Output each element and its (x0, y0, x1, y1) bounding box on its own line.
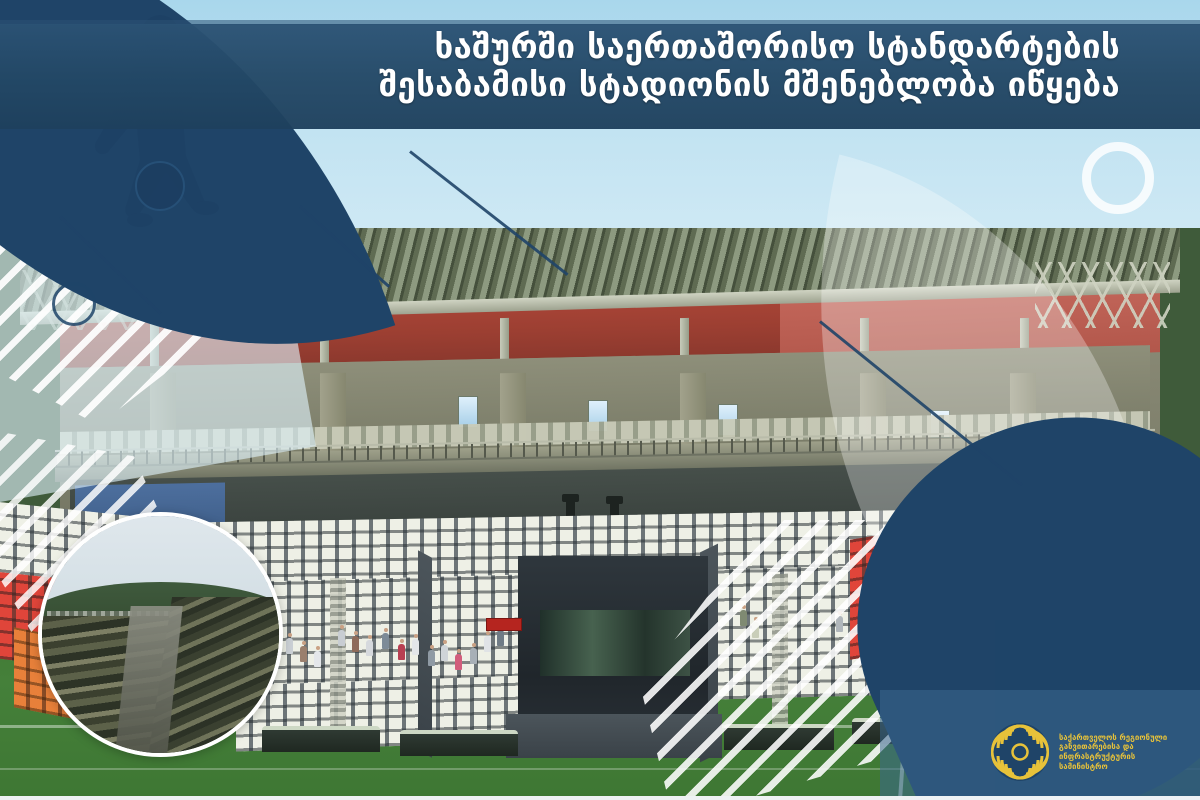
poster-canvas: ხაშურში საერთაშორისო სტანდარტების შესაბა… (0, 0, 1200, 800)
ministry-text-line-4: სამინისტრო (1059, 762, 1167, 772)
ministry-text-line-3: ინფრასტრუქტურის (1059, 752, 1167, 762)
headline-line-2: შესაბამისი სტადიონის მშენებლობა იწყება (0, 66, 1120, 104)
spectator (314, 651, 321, 667)
spectator (470, 648, 477, 664)
spectator (740, 610, 747, 626)
spectator (398, 644, 405, 660)
spectator (382, 633, 389, 649)
spectator (752, 622, 759, 638)
team-dugout (400, 730, 518, 756)
ministry-text-line-1: საქართველოს რეგიონული (1059, 733, 1167, 743)
spectator (300, 646, 307, 662)
white-ring-icon (1082, 142, 1154, 214)
spectator (412, 639, 419, 655)
supporter-banner (486, 618, 522, 631)
spectator (428, 650, 435, 666)
spectator (352, 636, 359, 652)
spectator (484, 636, 491, 652)
page-title: ხაშურში საერთაშორისო სტანდარტების შესაბა… (0, 28, 1160, 104)
spectator (836, 616, 843, 632)
team-dugout (724, 724, 834, 750)
headline-line-1: ხაშურში საერთაშორისო სტანდარტების (0, 28, 1120, 66)
spectator (497, 630, 504, 646)
spectator (338, 630, 345, 646)
spectator (455, 654, 462, 670)
spectator (286, 638, 293, 654)
spectator (366, 640, 373, 656)
team-dugout (262, 726, 380, 752)
bottom-strip (0, 796, 1200, 800)
ministry-logo-text: საქართველოს რეგიონული განვითარებისა და ი… (1059, 733, 1167, 771)
aisle-stairs (330, 578, 346, 749)
ministry-emblem-icon (990, 722, 1050, 782)
ministry-text-line-2: განვითარებისა და (1059, 742, 1167, 752)
tunnel-glazing (540, 610, 690, 676)
site-photo-inset (38, 512, 283, 757)
spectator (441, 645, 448, 661)
navy-ring-icon (52, 282, 96, 326)
aisle-stairs (772, 574, 788, 735)
tunnel-apron (506, 714, 722, 758)
ministry-logo: საქართველოს რეგიონული განვითარებისა და ი… (990, 722, 1167, 782)
